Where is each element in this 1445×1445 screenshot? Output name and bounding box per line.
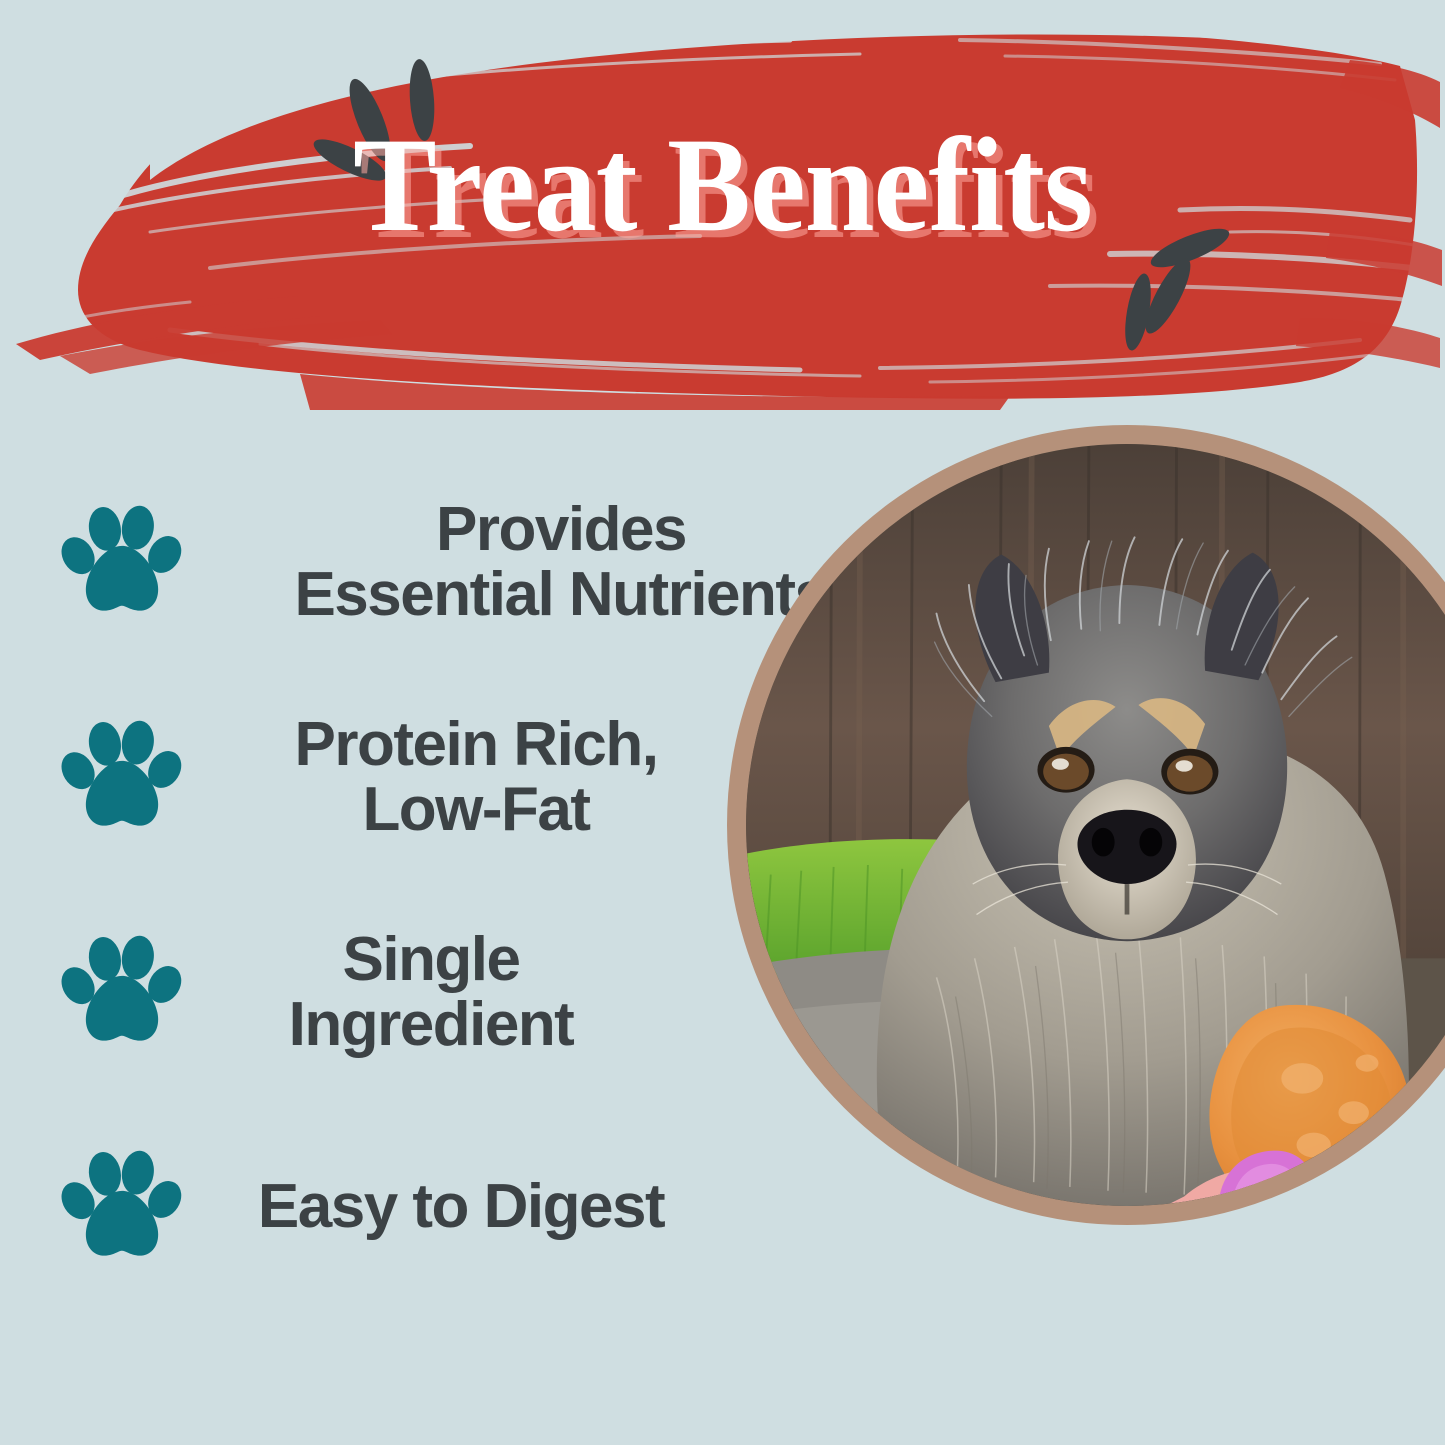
dog-photo-image	[746, 444, 1445, 1206]
banner-header: Treat Benefits	[0, 0, 1445, 410]
paw-print-icon	[52, 932, 192, 1054]
paw-print-icon	[52, 1147, 192, 1269]
paw-print-icon	[52, 717, 192, 839]
list-item-label: Easy to Digest	[192, 1175, 960, 1239]
paw-print-icon	[52, 502, 192, 624]
page-title: Treat Benefits	[51, 118, 1395, 253]
list-item: Easy to Digest	[0, 1100, 960, 1315]
